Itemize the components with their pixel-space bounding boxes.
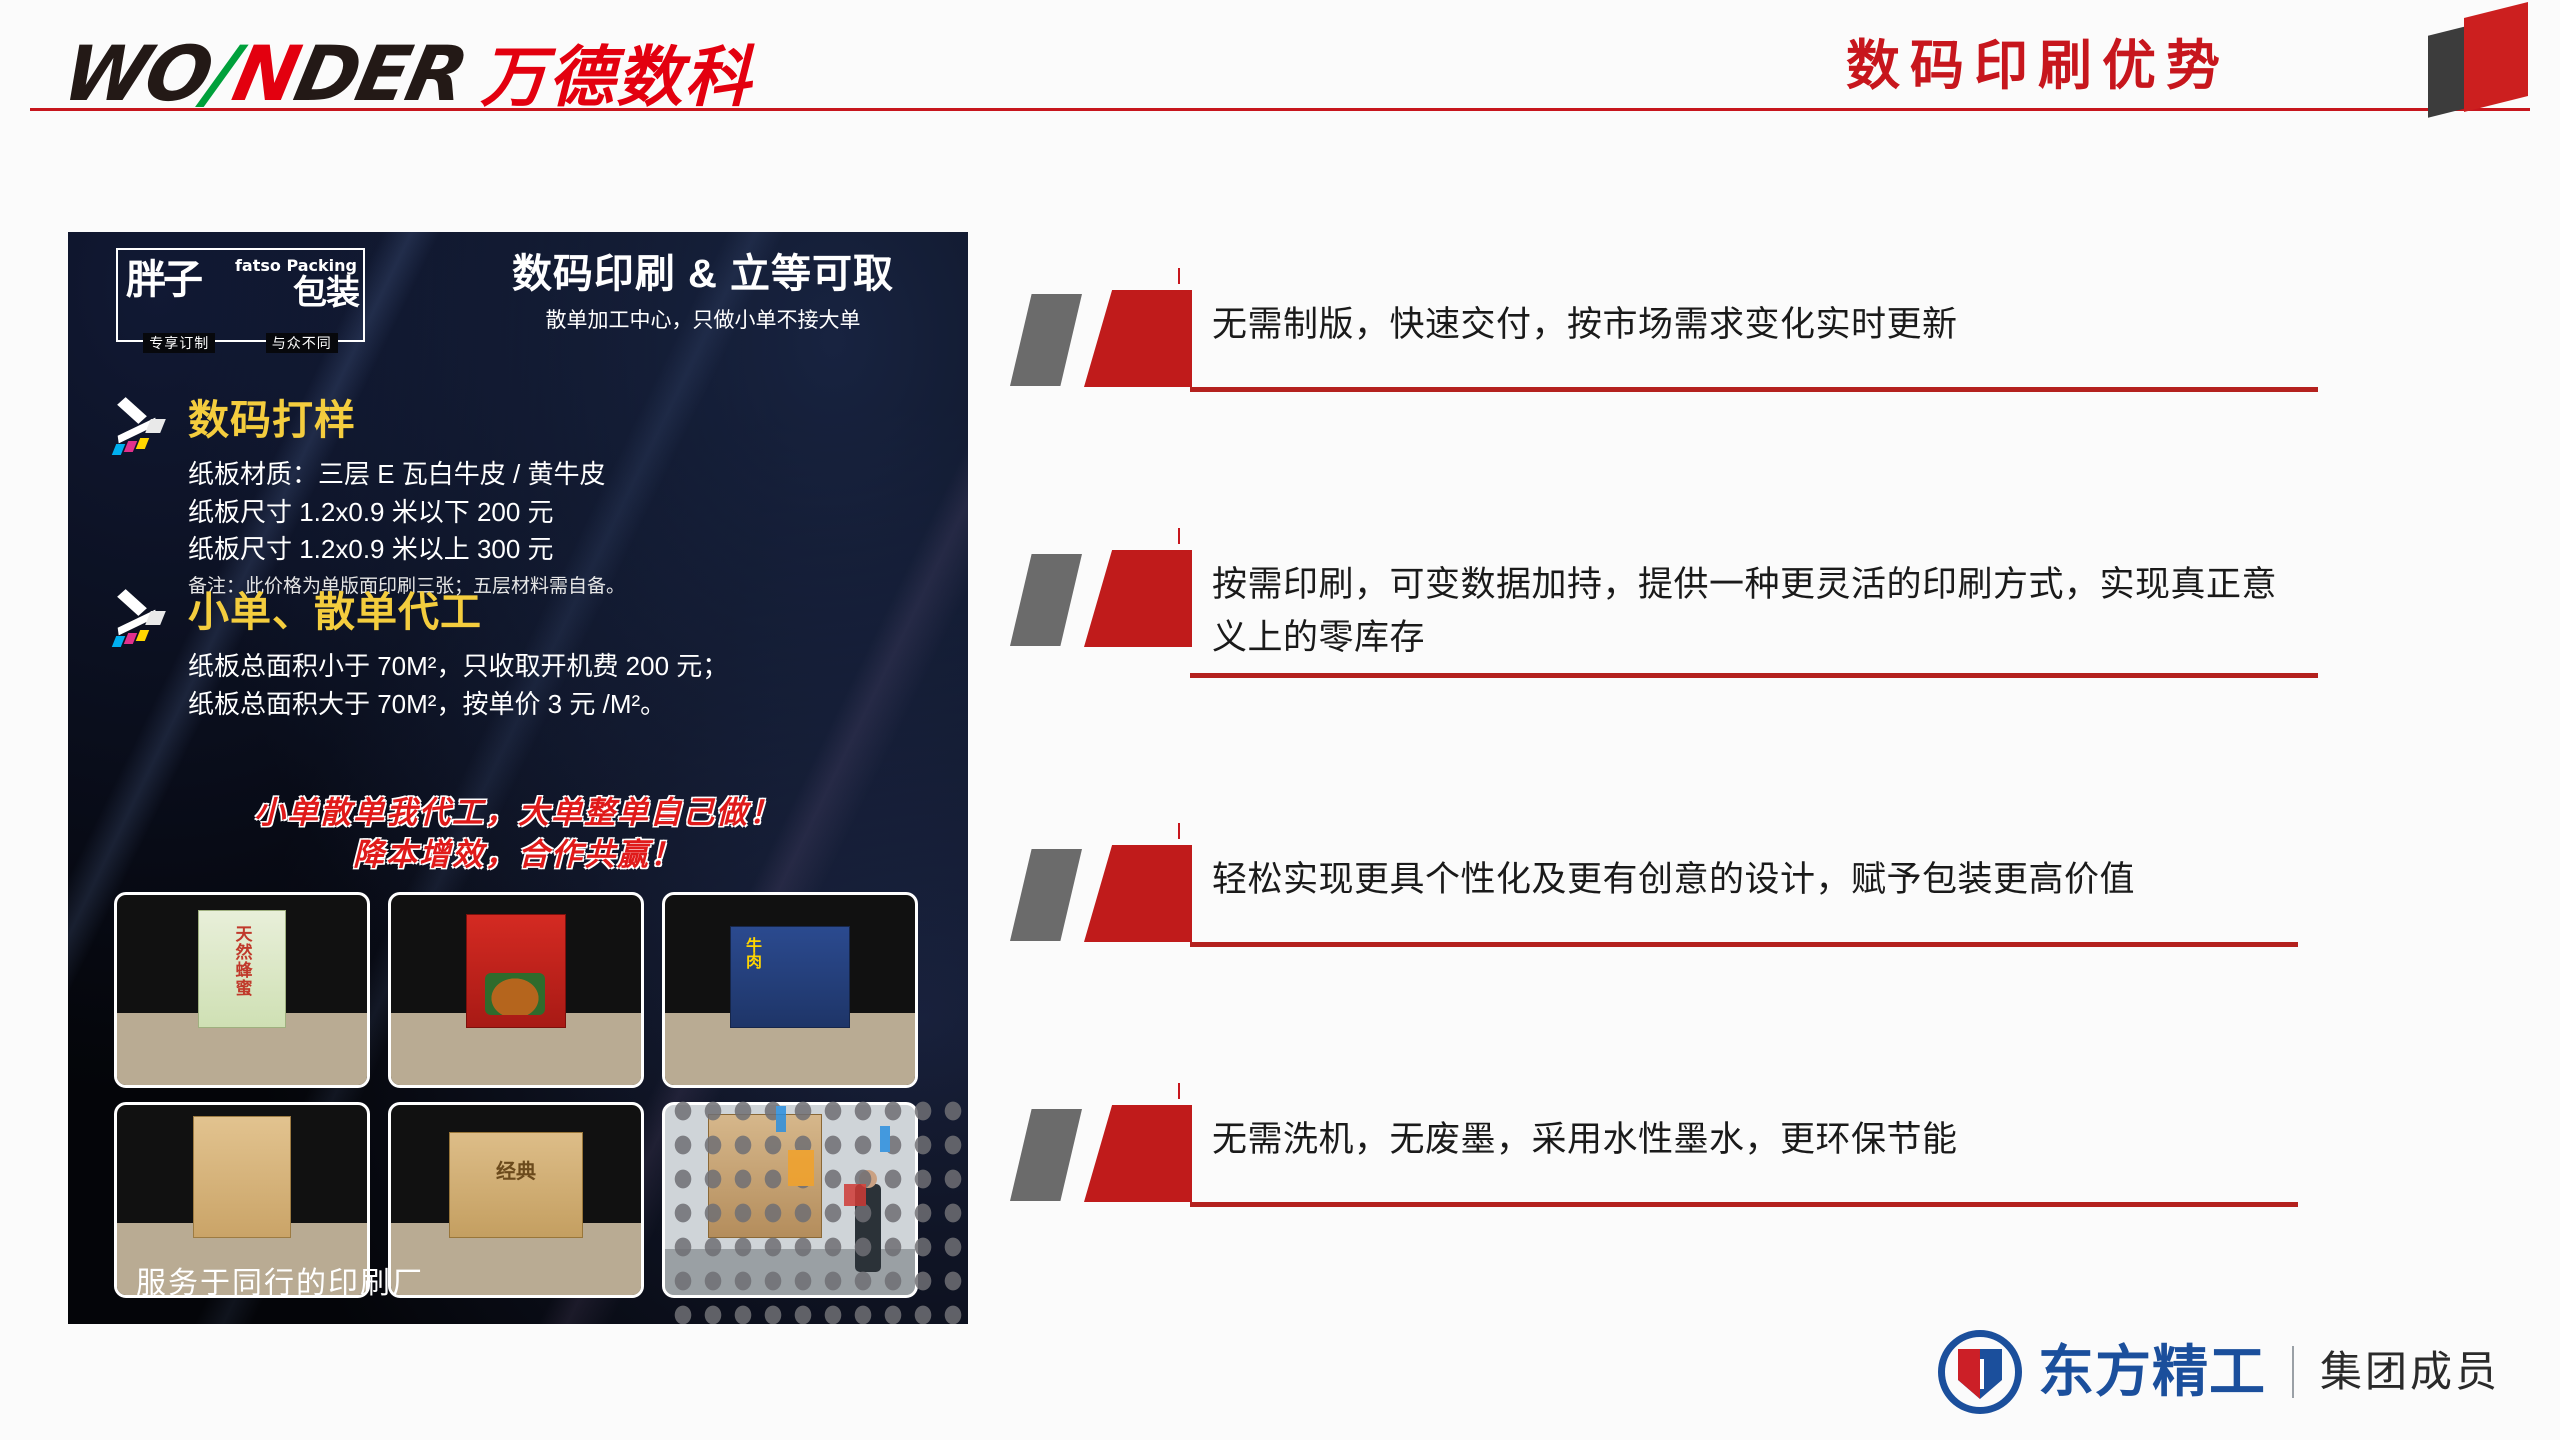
section-lines: 纸板总面积小于 70M²，只收取开机费 200 元； 纸板总面积大于 70M²，… — [188, 648, 728, 723]
bullet-text: 轻松实现更具个性化及更有创意的设计，赋予包装更高价值 — [1212, 853, 2312, 906]
section-lines: 纸板材质：三层 E 瓦白牛皮 / 黄牛皮 纸板尺寸 1.2x0.9 米以下 20… — [188, 456, 625, 601]
wordmark-part1: WO — [56, 29, 219, 118]
company-name: 东方精工 — [2038, 1344, 2266, 1400]
corner-decoration-icon — [2422, 4, 2542, 114]
bullet-underline — [1190, 673, 2318, 678]
member-label: 集团成员 — [2320, 1351, 2500, 1393]
product-photo — [662, 892, 918, 1088]
brand-name-cn: 胖子 — [126, 260, 200, 300]
shield-icon — [1958, 1349, 2002, 1399]
chevron-marker-icon — [1008, 1105, 1203, 1203]
bullet-text: 无需洗机，无废墨，采用水性墨水，更环保节能 — [1212, 1113, 2312, 1166]
halftone-dots-decoration — [668, 1094, 968, 1324]
bullet-text: 无需制版，快速交付，按市场需求变化实时更新 — [1212, 298, 2312, 351]
slogan-line-1: 小单散单我代工，大单整单自己做！ — [68, 792, 968, 834]
poster-subheadline: 散单加工中心，只做小单不接大单 — [468, 304, 938, 334]
group-member-logo: 东方精工 集团成员 — [1938, 1330, 2500, 1414]
dongfang-emblem-icon — [1938, 1330, 2022, 1414]
section-title: 小单、散单代工 — [188, 592, 482, 633]
corner-red-shape — [2464, 2, 2528, 112]
poster-title-block: 数码印刷 & 立等可取 散单加工中心，只做小单不接大单 — [468, 252, 938, 334]
product-photo — [114, 892, 370, 1088]
brand-name-en: fatso Packing — [235, 256, 357, 275]
fatso-brand-logo: 胖子 fatso Packing 包装 专享订制 与众不同 — [116, 248, 365, 342]
section-line: 纸板总面积小于 70M²，只收取开机费 200 元； — [188, 648, 728, 686]
poster-header: 胖子 fatso Packing 包装 专享订制 与众不同 数码印刷 & 立等可… — [68, 232, 968, 350]
poster-footer-text: 服务于同行的印刷厂 — [136, 1258, 424, 1302]
tick-mark — [1178, 528, 1180, 544]
chevron-marker-icon — [1008, 845, 1203, 943]
wonder-logo-cn: 万德数科 — [480, 44, 752, 110]
header-divider — [30, 108, 2530, 111]
poster-headline: 数码印刷 & 立等可取 — [468, 252, 938, 296]
chevron-marker-icon — [1008, 550, 1203, 648]
section-line: 纸板尺寸 1.2x0.9 米以下 200 元 — [188, 494, 625, 532]
wordmark-part2: DER — [287, 29, 473, 118]
section-line: 纸板材质：三层 E 瓦白牛皮 / 黄牛皮 — [188, 456, 625, 494]
poster-slogan: 小单散单我代工，大单整单自己做！ 降本增效，合作共赢！ — [68, 792, 968, 876]
tick-mark — [1178, 268, 1180, 284]
slide-header: WO/NDER 万德数科 数码印刷优势 — [0, 0, 2560, 110]
bullet-underline — [1190, 1202, 2298, 1207]
section-title: 数码打样 — [188, 400, 356, 441]
footer-divider — [2292, 1346, 2294, 1398]
brand-taglines: 专享订制 与众不同 — [118, 333, 363, 353]
bullet-underline — [1190, 387, 2318, 392]
page-title: 数码印刷优势 — [1846, 34, 2230, 99]
arrow-cmyk-icon — [112, 596, 174, 652]
tick-mark — [1178, 1083, 1180, 1099]
bullet-text: 按需印刷，可变数据加持，提供一种更灵活的印刷方式，实现真正意义上的零库存 — [1212, 558, 2312, 664]
section-line: 纸板尺寸 1.2x0.9 米以上 300 元 — [188, 531, 625, 569]
brand-tagline-right: 与众不同 — [266, 333, 338, 353]
bullet-underline — [1190, 942, 2298, 947]
product-photo — [388, 892, 644, 1088]
tick-mark — [1178, 823, 1180, 839]
arrow-cmyk-icon — [112, 404, 174, 460]
brand-tagline-left: 专享订制 — [143, 333, 215, 353]
section-line: 纸板总面积大于 70M²，按单价 3 元 /M²。 — [188, 686, 728, 724]
brand-packaging-cn: 包装 — [293, 276, 359, 310]
wonder-wordmark: WO/NDER — [57, 36, 472, 112]
chevron-marker-icon — [1008, 290, 1203, 388]
wonder-logo: WO/NDER 万德数科 — [65, 36, 752, 112]
product-photo — [388, 1102, 644, 1298]
promo-poster-image: 胖子 fatso Packing 包装 专享订制 与众不同 数码印刷 & 立等可… — [68, 232, 968, 1324]
slogan-line-2: 降本增效，合作共赢！ — [68, 834, 968, 876]
